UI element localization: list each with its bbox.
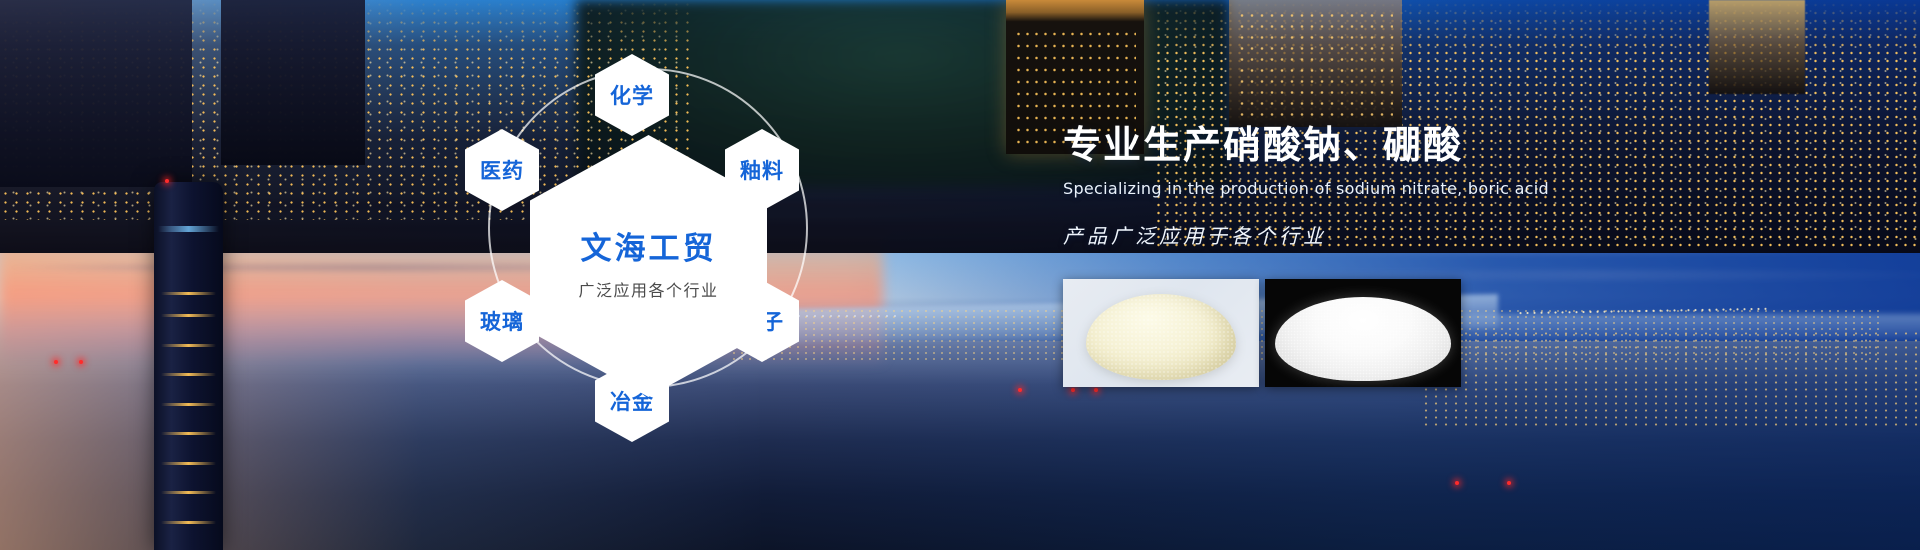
building-block [0,0,192,187]
headline-english: Specializing in the production of sodium… [1063,179,1853,198]
aviation-light [79,360,83,364]
cloud-streak [1190,270,1920,280]
aviation-light [1018,388,1022,392]
powder-pile [1275,297,1451,381]
hex-node-label: 玻璃 [480,306,524,336]
illuminated-landmark [1709,0,1805,94]
hex-node-label: 釉料 [740,155,784,185]
industry-hexagon-diagram: 化学 釉料 电子 冶金 玻璃 医药 文海工贸 广泛应用各个行业 [440,30,900,450]
powder-pile [1086,294,1236,380]
hex-node-label: 医药 [480,155,524,185]
product-photo-sodium-nitrate[interactable] [1063,279,1259,387]
hex-node-label: 化学 [610,80,654,110]
company-name: 文海工贸 [581,231,717,268]
headline-primary: 专业生产硝酸钠、硼酸 [1063,125,1853,167]
building-block [1229,0,1402,127]
powder-grain-texture [1086,294,1236,380]
headline-secondary: 产品广泛应用于各个行业 [1063,220,1853,249]
skyscraper-tower [154,182,223,550]
product-photo-boric-acid[interactable] [1265,279,1461,387]
city-lights-mid [1421,330,1920,429]
headline-block: 专业生产硝酸钠、硼酸 Specializing in the productio… [1063,125,1853,249]
aviation-light [54,360,58,364]
promotional-banner: 化学 釉料 电子 冶金 玻璃 医药 文海工贸 广泛应用各个行业 专业生产硝酸钠、… [0,0,1920,550]
aviation-light [165,179,169,183]
building-block [221,0,365,165]
tower-window-lights [1237,10,1393,124]
tower-accent-light [158,226,219,232]
company-tagline: 广泛应用各个行业 [578,277,718,301]
product-photo-strip [1063,279,1461,387]
powder-grain-texture [1275,297,1451,381]
